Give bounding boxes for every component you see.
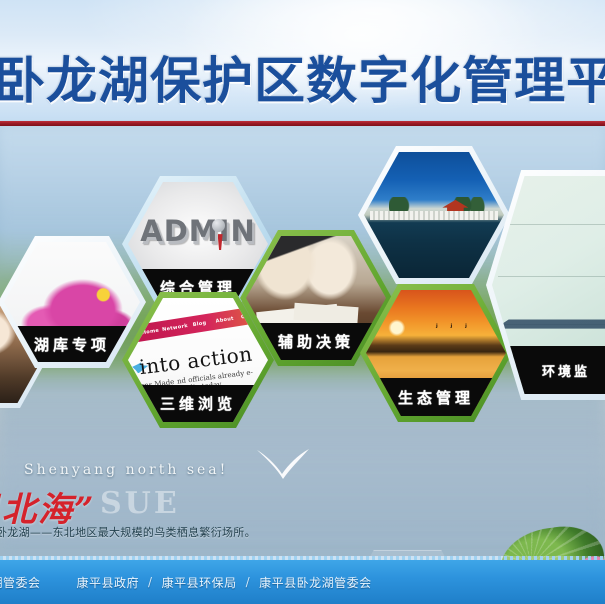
lake-bridge-railing (370, 211, 499, 220)
caption-ghost-text: SUE (100, 486, 180, 521)
chart-trend-curve (495, 250, 605, 328)
caption-chinese-description: 卧龙湖——东北地区最大规模的鸟类栖息繁衍场所。 (0, 524, 256, 540)
web-nav-about: About (216, 316, 235, 325)
web-nav-network: Network (162, 323, 189, 333)
page-header: 卧龙湖保护区数字化管理平台 (0, 0, 605, 124)
footer-link-epb[interactable]: 康平县环保局 (162, 574, 237, 591)
web-nav-home: Home (142, 328, 160, 337)
footer-link-wolonghu-committee[interactable]: 康平县卧龙湖管委会 (259, 574, 372, 591)
footer-link-government[interactable]: 康平县政府 (77, 574, 140, 591)
footer-links: 康平县政府 / 康平县环保局 / 康平县卧龙湖管委会 (77, 574, 372, 591)
footer-content: 康平县卧龙湖管委会 康平县政府 / 康平县环保局 / 康平县卧龙湖管委会 (0, 560, 372, 604)
footer-owner: 康平县卧龙湖管委会 (0, 574, 41, 591)
web-nav-blog: Blog (193, 320, 208, 328)
footer-link-separator-2: / (246, 575, 251, 589)
admin-art-text: ADMIN (128, 214, 268, 248)
page-title: 卧龙湖保护区数字化管理平台 (0, 52, 605, 114)
caption-english: Shenyang north sea! (24, 462, 228, 478)
footer-link-separator-1: / (148, 575, 153, 589)
sunset-birds-icon: ⱼ ⱼ ⱼ (436, 320, 492, 338)
app-root: 卧龙湖保护区数字化管理平台 SUE Shenyang north sea! 月北… (0, 0, 605, 604)
page-footer: 康平县卧龙湖管委会 康平县政府 / 康平县环保局 / 康平县卧龙湖管委会 (0, 560, 605, 604)
chart-gridline-1 (498, 224, 605, 225)
hex-image-lake-view (364, 152, 504, 278)
lake-trees (389, 197, 487, 212)
web-art-nav-ribbon: Home Network Blog About Con (136, 305, 266, 342)
chart-gridline-2 (498, 276, 605, 277)
